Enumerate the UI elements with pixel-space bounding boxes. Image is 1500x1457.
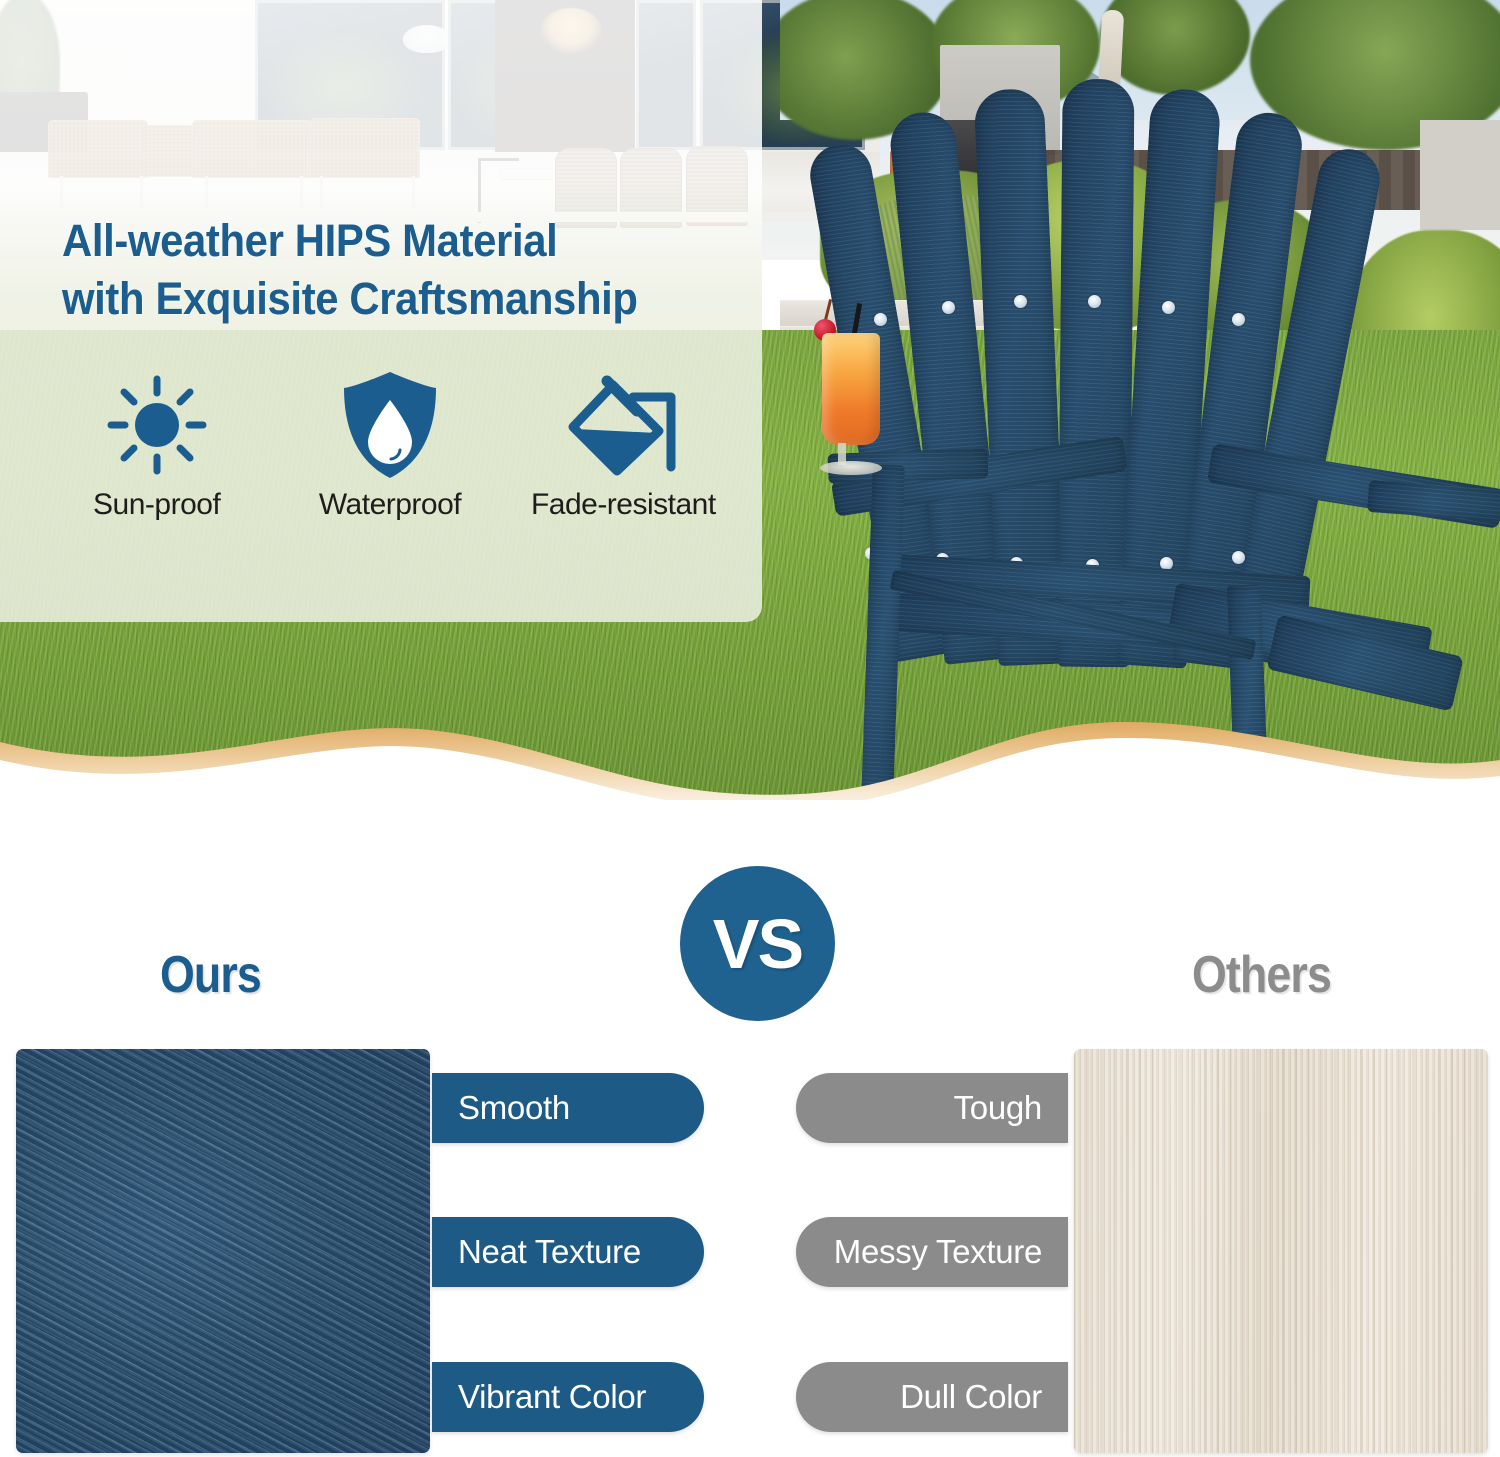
wavy-divider [0, 690, 1500, 810]
vs-label: VS [713, 904, 802, 984]
page-title: All-weather HIPS Material with Exquisite… [62, 212, 704, 328]
pill-label: Dull Color [900, 1378, 1042, 1416]
pill-label: Smooth [458, 1089, 570, 1127]
feature-label: Fade-resistant [531, 488, 716, 522]
ours-point-1: Smooth [432, 1073, 704, 1143]
others-point-2: Messy Texture [796, 1217, 1068, 1287]
screw [1232, 313, 1245, 326]
screw [942, 301, 955, 314]
feature-label: Waterproof [319, 488, 461, 522]
feature-list: Sun-proof Waterproof [40, 370, 740, 522]
ours-point-2: Neat Texture [432, 1217, 704, 1287]
ours-heading: Ours [160, 945, 261, 1005]
others-texture-swatch [1074, 1049, 1488, 1453]
sun-icon [105, 370, 209, 480]
pill-label: Messy Texture [834, 1233, 1042, 1271]
feature-waterproof: Waterproof [273, 370, 506, 522]
feature-label: Sun-proof [93, 488, 220, 522]
drink-glass [822, 333, 880, 445]
paint-bucket-icon [567, 370, 679, 480]
product-marketing-page: All-weather HIPS Material with Exquisite… [0, 0, 1500, 1457]
others-heading: Others [1192, 945, 1331, 1005]
screw [1232, 551, 1245, 564]
headline-line-2: with Exquisite Craftsmanship [62, 270, 704, 328]
headline-line-1: All-weather HIPS Material [62, 212, 704, 270]
pill-label: Neat Texture [458, 1233, 641, 1271]
screw [1162, 301, 1175, 314]
screw [1014, 295, 1027, 308]
feature-sun-proof: Sun-proof [40, 370, 273, 522]
screw [1088, 295, 1101, 308]
feature-fade-resistant: Fade-resistant [507, 370, 740, 522]
ours-texture-swatch [16, 1049, 430, 1453]
others-point-3: Dull Color [796, 1362, 1068, 1432]
glass-foot [820, 461, 882, 475]
pill-label: Vibrant Color [458, 1378, 646, 1416]
white-fill-below-wave [0, 800, 1500, 810]
vs-badge: VS [680, 866, 835, 1021]
cocktail-drink [808, 295, 898, 485]
ours-point-3: Vibrant Color [432, 1362, 704, 1432]
others-point-1: Tough [796, 1073, 1068, 1143]
pill-label: Tough [954, 1089, 1042, 1127]
feature-overlay-panel: All-weather HIPS Material with Exquisite… [0, 0, 762, 622]
shield-water-drop-icon [340, 370, 440, 480]
